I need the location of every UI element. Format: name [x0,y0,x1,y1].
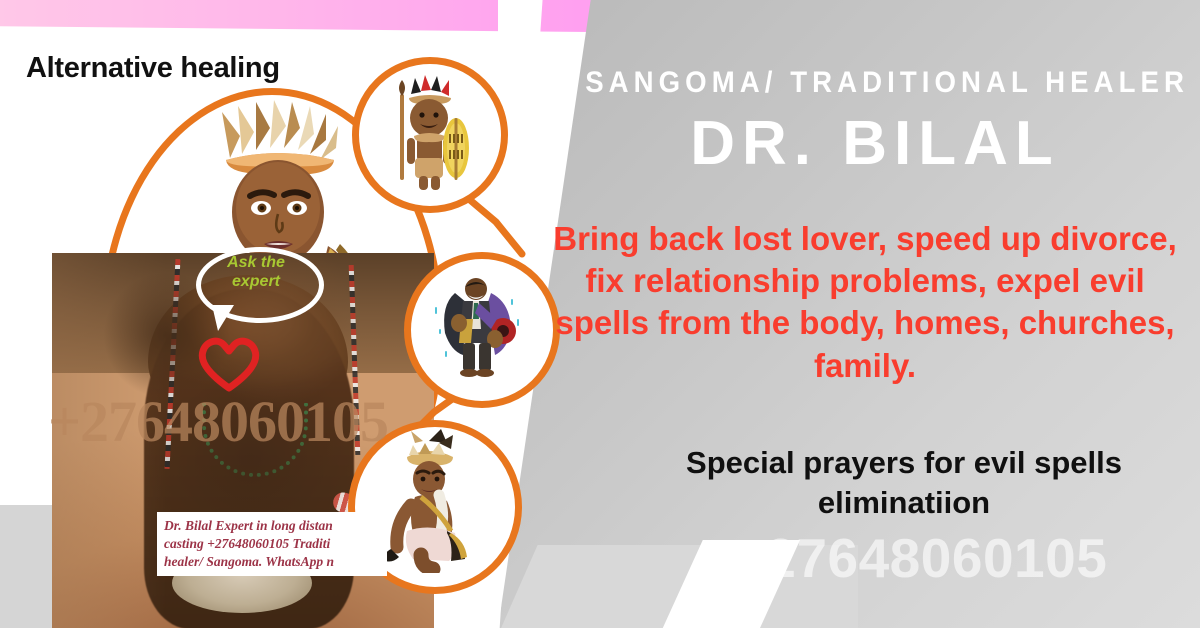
page-title: Alternative healing [26,52,280,85]
circle-connector-1 [466,196,528,258]
photo-caption-box: Dr. Bilal Expert in long distan casting … [157,512,387,576]
ghost-phone-number: +27648060105 [640,526,1200,590]
caption-line-3: healer/ Sangoma. WhatsApp n [164,553,381,571]
bottom-left-gray-block [0,505,54,628]
services-black-text: Special prayers for evil spells eliminat… [614,443,1194,524]
kicker-text: SANGOMA/ TRADITIONAL HEALER [585,66,1165,100]
services-red-text: Bring back lost lover, speed up divorce,… [540,218,1190,387]
speech-bubble-text: Ask the expert [206,254,306,292]
sangoma-figure-icon [411,259,541,389]
photo-watermark-number: +27648060105 [48,388,388,455]
poster-canvas: Alternative healing +27648060105 Ask the… [0,0,1200,628]
healer-name: DR. BILAL [560,108,1190,179]
caption-line-2: casting +27648060105 Traditi [164,535,381,553]
circle-zulu-warrior-cartoon [352,57,508,213]
circle-sangoma-figure [404,252,560,408]
heart-icon [196,332,262,392]
caption-line-1: Dr. Bilal Expert in long distan [164,517,381,535]
zulu-warrior-icon [359,64,489,194]
